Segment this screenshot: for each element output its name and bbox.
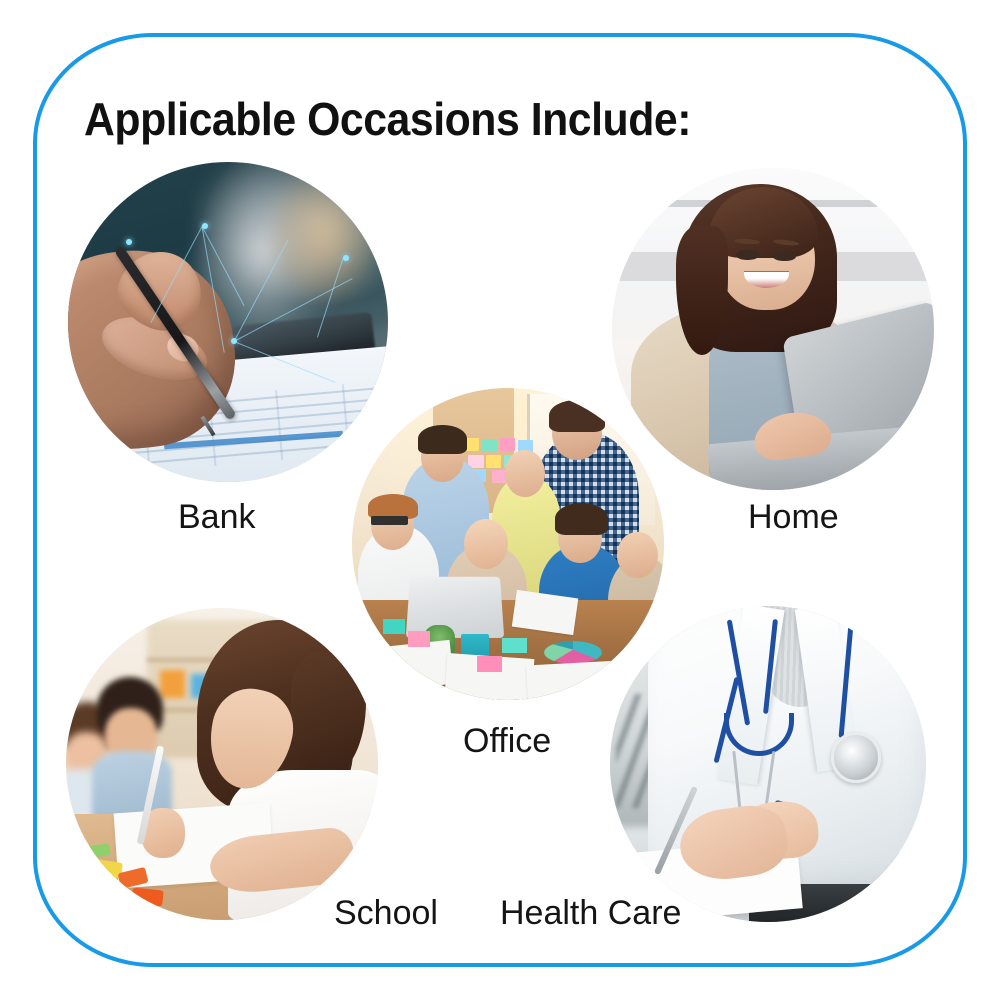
stethoscope-icon [831,732,881,782]
caption-school: School [334,894,438,933]
caption-health-care: Health Care [500,894,681,933]
occasion-image-health-care [610,606,926,922]
caption-bank: Bank [178,498,256,537]
occasion-image-bank [68,162,388,482]
occasion-image-school [66,608,378,920]
page-title: Applicable Occasions Include: [84,92,691,146]
caption-home: Home [748,498,839,537]
caption-office: Office [463,722,551,761]
promo-banner: Applicable Occasions Include: [0,0,1000,1000]
